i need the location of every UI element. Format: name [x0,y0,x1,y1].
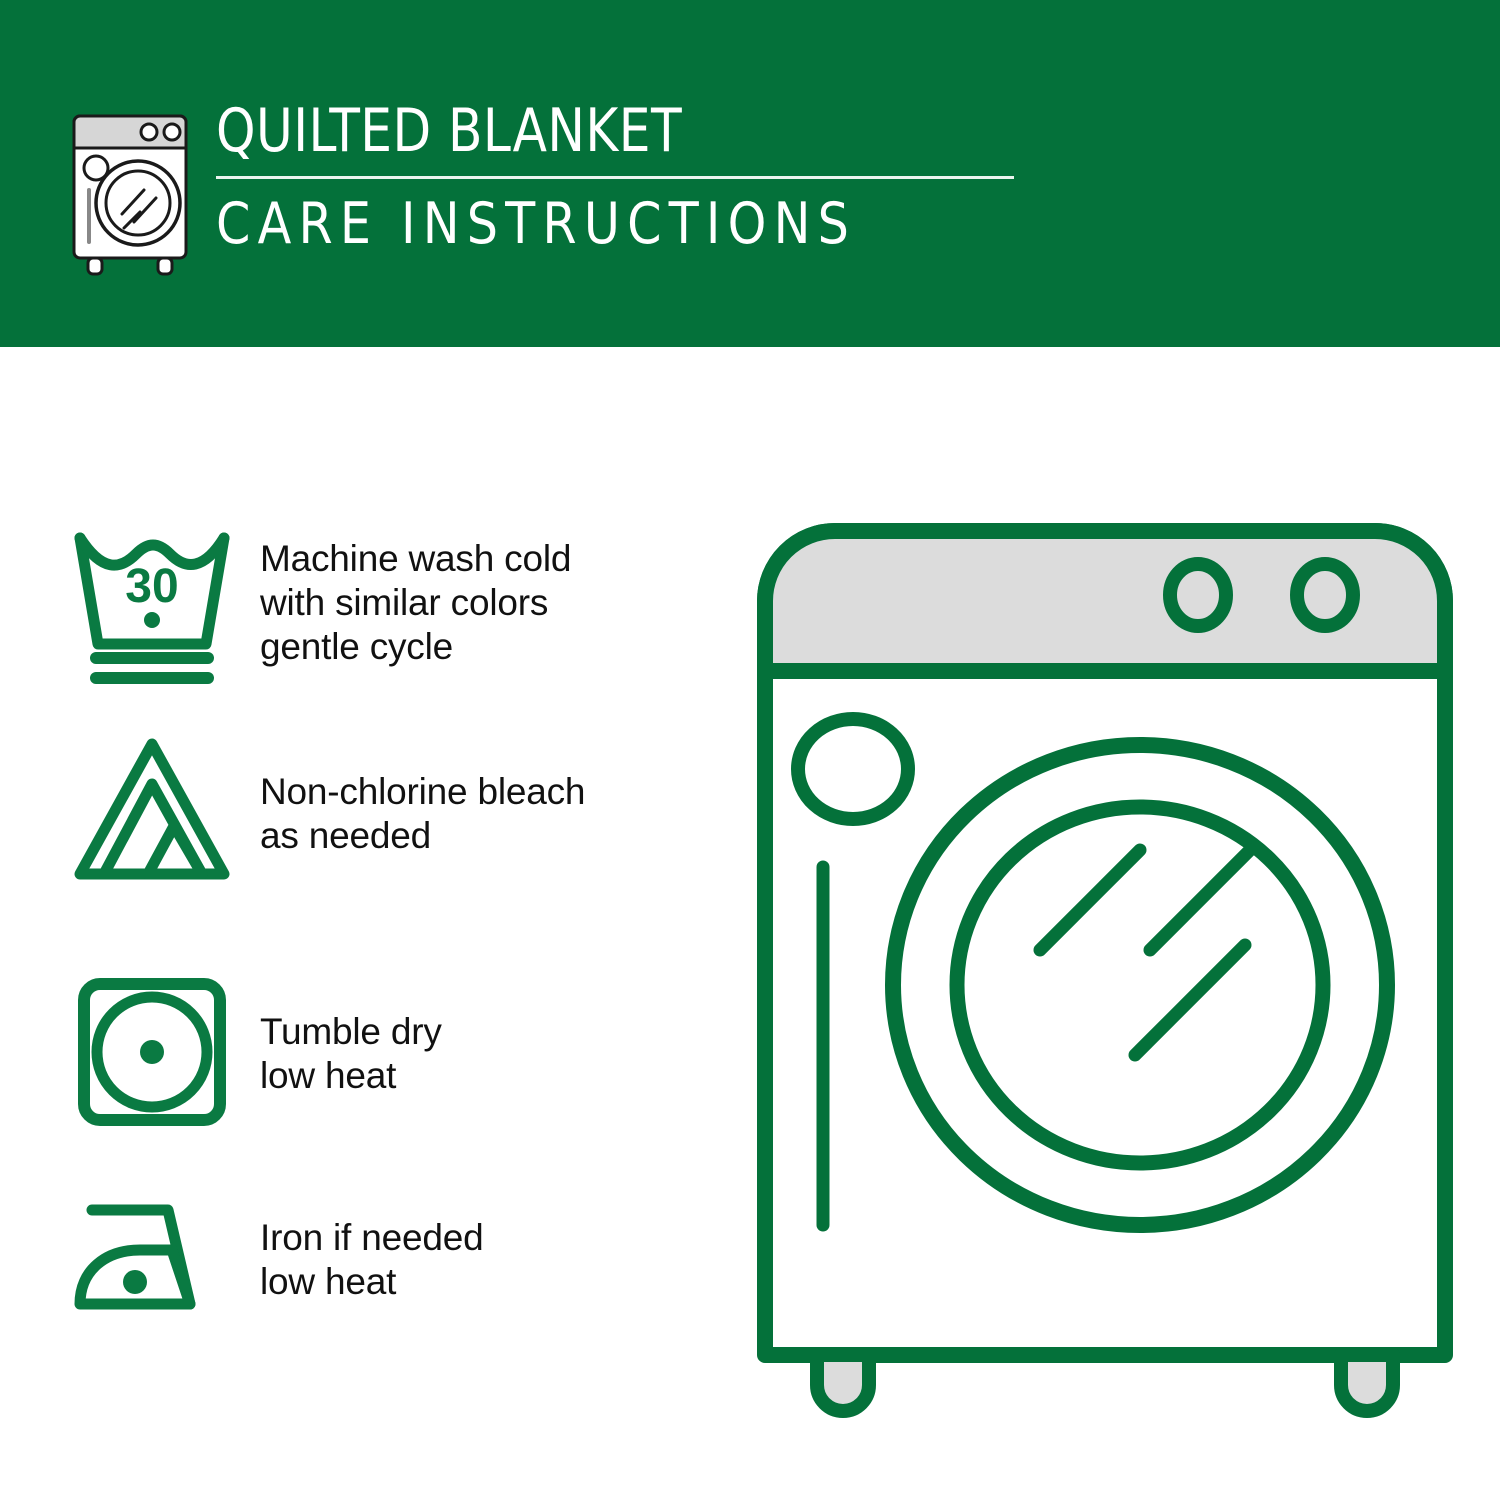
care-text-line: with similar colors [260,581,722,625]
care-item-label: Tumble dry low heat [242,962,722,1098]
washing-machine-illustration [745,495,1465,1435]
iron-low-heat-icon [62,1172,242,1352]
title-divider [216,176,1014,179]
non-chlorine-bleach-icon [62,722,242,902]
care-text-line: Iron if needed [260,1216,722,1260]
care-text-line: Machine wash cold [260,537,722,581]
tumble-dry-low-icon [62,962,242,1142]
care-text-line: gentle cycle [260,625,722,669]
washing-machine-icon [62,106,198,278]
care-text-line: low heat [260,1054,722,1098]
wash-temperature-label: 30 [125,560,178,613]
care-item-machine-wash: 30 Machine wash cold with similar colors… [62,510,722,690]
care-item-label: Machine wash cold with similar colors ge… [242,510,722,669]
machine-wash-30-gentle-icon: 30 [62,510,242,690]
care-text-line: Non-chlorine bleach [260,770,722,814]
care-item-label: Iron if needed low heat [242,1172,722,1304]
leg-right [1341,1355,1393,1411]
care-item-iron: Iron if needed low heat [62,1172,722,1352]
care-instructions-page: QUILTED BLANKET CARE INSTRUCTIONS 30 [0,0,1500,1500]
care-item-tumble-dry: Tumble dry low heat [62,962,722,1142]
page-title: QUILTED BLANKET [216,98,960,164]
care-text-line: Tumble dry [260,1010,722,1054]
header-title-group: QUILTED BLANKET CARE INSTRUCTIONS [216,96,1016,255]
knob-left [1170,564,1226,626]
care-item-bleach: Non-chlorine bleach as needed [62,722,722,902]
knob-right [1297,564,1353,626]
header-banner: QUILTED BLANKET CARE INSTRUCTIONS [0,0,1500,347]
care-text-line: as needed [260,814,722,858]
care-item-label: Non-chlorine bleach as needed [242,722,722,858]
detergent-dispenser [798,719,908,819]
care-text-line: low heat [260,1260,722,1304]
leg-left [817,1355,869,1411]
page-subtitle: CARE INSTRUCTIONS [216,193,984,255]
header-content: QUILTED BLANKET CARE INSTRUCTIONS [62,96,1422,276]
